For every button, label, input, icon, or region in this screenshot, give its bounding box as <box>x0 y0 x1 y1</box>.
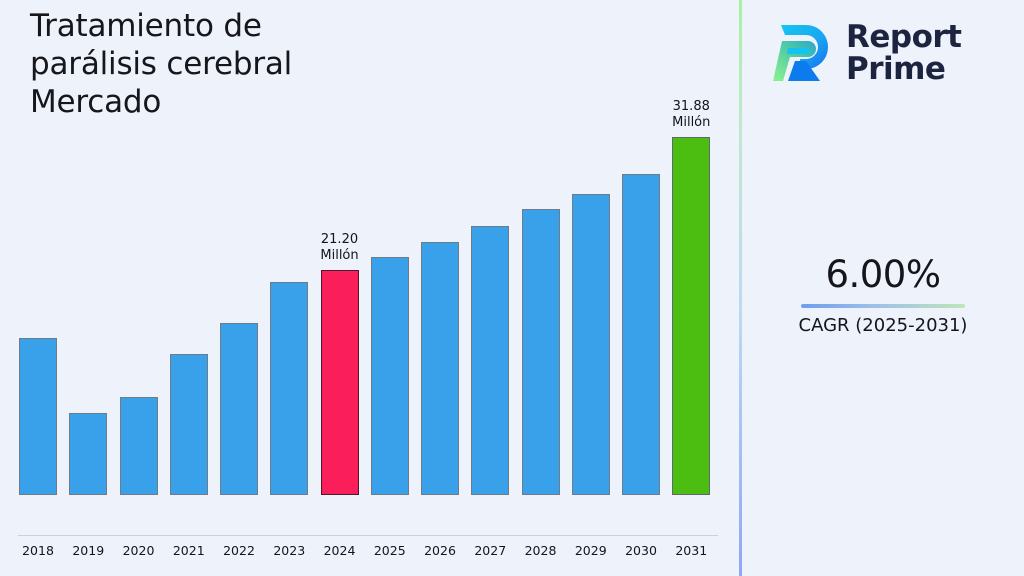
x-axis-label-2030: 2030 <box>622 543 660 558</box>
brand-line-2: Prime <box>846 53 962 85</box>
bar-chart-plot-area: 21.20Millón31.88Millón 20182019202020212… <box>0 0 739 536</box>
bar-rect-2027 <box>471 226 509 495</box>
x-axis-label-2018: 2018 <box>19 543 57 558</box>
x-axis-label-2028: 2028 <box>522 543 560 558</box>
bar-rect-2022 <box>220 323 258 495</box>
x-axis-label-2023: 2023 <box>270 543 308 558</box>
x-axis-label-2022: 2022 <box>220 543 258 558</box>
x-axis-label-2021: 2021 <box>170 543 208 558</box>
bar-rect-2023 <box>270 282 308 495</box>
bar-2024: 21.20Millón <box>321 270 359 495</box>
cagr-label: CAGR (2025-2031) <box>742 315 1024 336</box>
x-axis-label-2031: 2031 <box>672 543 710 558</box>
cagr-divider-rule <box>801 304 965 308</box>
bar-2028 <box>522 209 560 495</box>
x-axis-label-2027: 2027 <box>471 543 509 558</box>
brand-logo: Report Prime <box>770 12 1010 94</box>
bar-2030 <box>622 174 660 495</box>
bar-2018 <box>19 338 57 495</box>
chart-panel: Tratamiento de parálisis cerebral Mercad… <box>0 0 739 576</box>
report-prime-logo-icon <box>770 20 832 86</box>
x-axis-label-2025: 2025 <box>371 543 409 558</box>
x-axis-label-2020: 2020 <box>120 543 158 558</box>
bar-2031: 31.88Millón <box>672 137 710 495</box>
bar-rect-2031 <box>672 137 710 495</box>
cagr-value: 6.00% <box>742 255 1024 296</box>
bar-rect-2024 <box>321 270 359 495</box>
bar-2027 <box>471 226 509 495</box>
x-axis-label-2024: 2024 <box>321 543 359 558</box>
axis-baseline <box>18 535 718 536</box>
bar-2021 <box>170 354 208 495</box>
brand-line-1: Report <box>846 21 962 53</box>
bar-value-number-2031: 31.88 <box>673 99 710 114</box>
bar-rect-2019 <box>69 413 107 495</box>
bar-rect-2020 <box>120 397 158 495</box>
bar-value-label-2024: 21.20Millón <box>320 232 358 264</box>
bar-rect-2018 <box>19 338 57 495</box>
bar-2019 <box>69 413 107 495</box>
bar-value-unit-2031: Millón <box>672 115 710 131</box>
bar-2022 <box>220 323 258 495</box>
bar-value-unit-2024: Millón <box>320 248 358 264</box>
bar-2029 <box>572 194 610 495</box>
bar-rect-2030 <box>622 174 660 495</box>
side-panel: Report Prime 6.00% CAGR (2025-2031) <box>742 0 1024 576</box>
cagr-block: 6.00% CAGR (2025-2031) <box>742 255 1024 336</box>
bar-2026 <box>421 242 459 495</box>
x-axis-label-2019: 2019 <box>69 543 107 558</box>
infographic-root: Tratamiento de parálisis cerebral Mercad… <box>0 0 1024 576</box>
bar-rect-2021 <box>170 354 208 495</box>
bar-value-number-2024: 21.20 <box>321 232 358 247</box>
bar-rect-2026 <box>421 242 459 495</box>
bar-2023 <box>270 282 308 495</box>
bar-rect-2025 <box>371 257 409 495</box>
brand-wordmark: Report Prime <box>846 21 962 85</box>
bar-rect-2029 <box>572 194 610 495</box>
bar-value-label-2031: 31.88Millón <box>672 99 710 131</box>
bar-2025 <box>371 257 409 495</box>
x-axis-label-2026: 2026 <box>421 543 459 558</box>
bar-rect-2028 <box>522 209 560 495</box>
x-axis-label-2029: 2029 <box>572 543 610 558</box>
bar-2020 <box>120 397 158 495</box>
